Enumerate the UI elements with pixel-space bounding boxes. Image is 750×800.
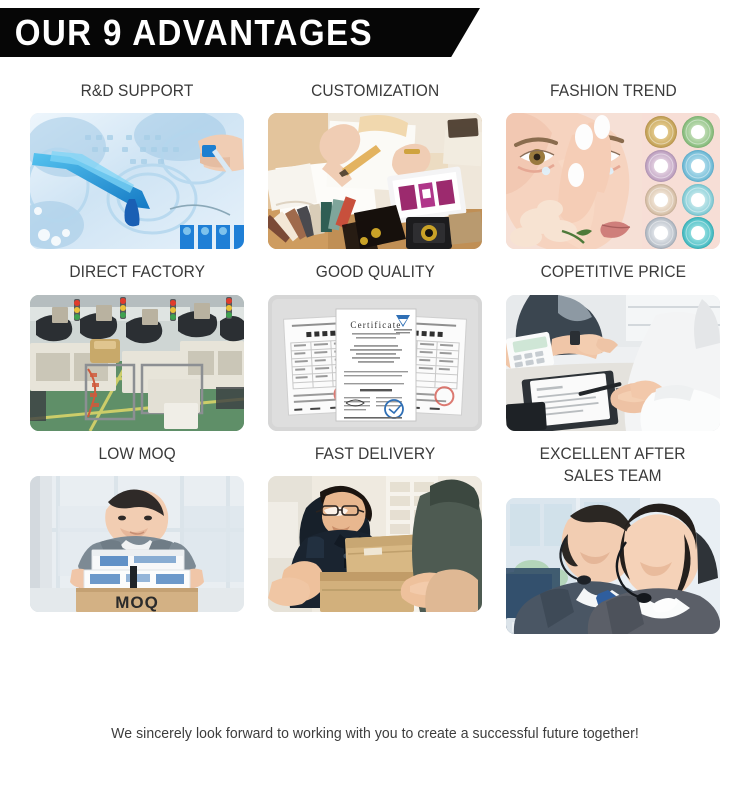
- fashion-trend-photo: [506, 113, 720, 249]
- svg-text:Certificate: Certificate: [350, 320, 401, 330]
- direct-factory-photo: [30, 295, 244, 431]
- advantage-title: FAST DELIVERY: [315, 443, 435, 465]
- advantage-card-fast-delivery[interactable]: FAST DELIVERY: [268, 443, 482, 635]
- advantage-card-after-sales-team[interactable]: EXCELLENT AFTER SALES TEAM: [506, 443, 720, 635]
- advantages-grid: R&D SUPPORT: [0, 80, 750, 646]
- advantage-title: DIRECT FACTORY: [69, 261, 205, 283]
- advantage-title: R&D SUPPORT: [81, 80, 194, 102]
- advantage-title: COPETITIVE PRICE: [540, 261, 685, 283]
- advantage-title: FASHION TREND: [550, 80, 677, 102]
- advantage-title: CUSTOMIZATION: [311, 80, 439, 102]
- advantage-card-low-moq[interactable]: LOW MOQ: [30, 443, 244, 635]
- customization-photo: [268, 113, 482, 249]
- advantage-card-good-quality[interactable]: GOOD QUALITY: [268, 261, 482, 430]
- advantage-title: EXCELLENT AFTER SALES TEAM: [540, 443, 686, 488]
- advantage-card-competitive-price[interactable]: COPETITIVE PRICE: [506, 261, 720, 430]
- fast-delivery-photo: [268, 476, 482, 612]
- good-quality-photo: Certificate: [268, 295, 482, 431]
- advantage-card-rd-support[interactable]: R&D SUPPORT: [30, 80, 244, 249]
- svg-text:MOQ: MOQ: [115, 593, 159, 612]
- footer-message: We sincerely look forward to working wit…: [11, 726, 739, 742]
- header-banner: OUR 9 ADVANTAGES: [0, 8, 480, 57]
- rd-support-photo: [30, 113, 244, 249]
- advantage-title: LOW MOQ: [98, 443, 175, 465]
- advantages-row: LOW MOQ: [0, 443, 750, 635]
- page-title: OUR 9 ADVANTAGES: [0, 15, 373, 51]
- advantage-title: GOOD QUALITY: [315, 261, 434, 283]
- advantages-row: R&D SUPPORT: [0, 80, 750, 249]
- advantages-row: DIRECT FACTORY: [0, 261, 750, 430]
- advantage-card-fashion-trend[interactable]: FASHION TREND: [506, 80, 720, 249]
- advantage-card-direct-factory[interactable]: DIRECT FACTORY: [30, 261, 244, 430]
- advantage-card-customization[interactable]: CUSTOMIZATION: [268, 80, 482, 249]
- low-moq-photo: MOQ: [30, 476, 244, 612]
- competitive-price-photo: [506, 295, 720, 431]
- after-sales-team-photo: [506, 498, 720, 634]
